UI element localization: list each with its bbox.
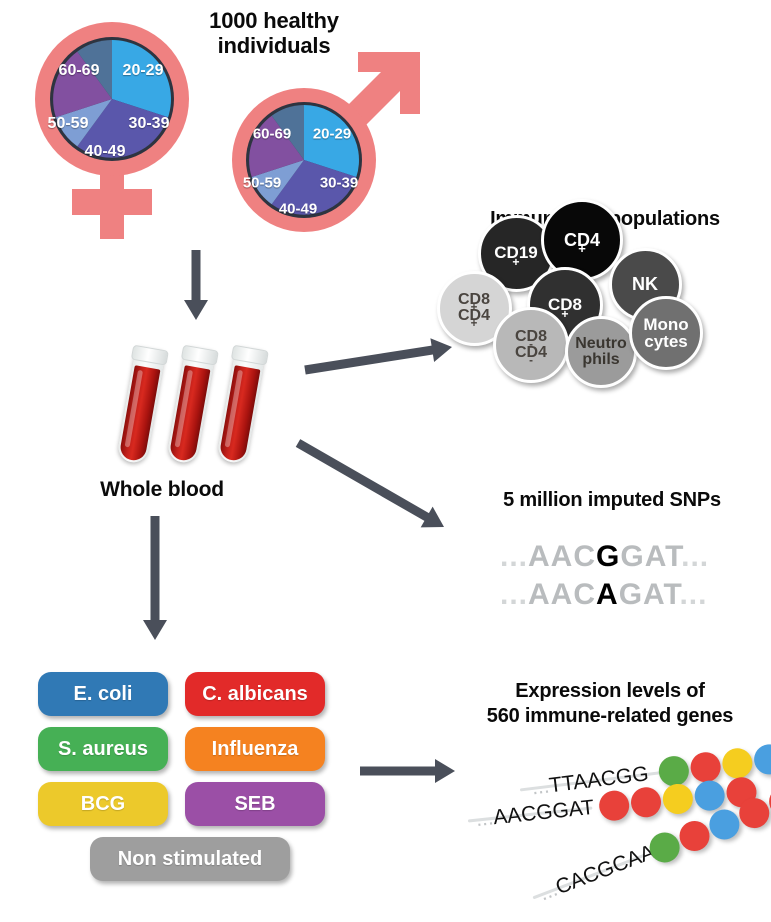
dna-bead — [735, 794, 771, 833]
immune-cell-cd8-cd4[interactable]: CD8-CD4- — [493, 307, 569, 383]
dna-bead — [630, 786, 663, 819]
immune-cell-label: CD8+ — [548, 296, 582, 313]
dna-bead — [661, 782, 694, 815]
immune-cell-label: CD8-CD4- — [515, 329, 547, 362]
dna-bead — [675, 817, 714, 856]
immune-cell-label: Neutrophils — [575, 336, 627, 369]
immune-cell-label: NK — [632, 275, 658, 293]
expression-strands-group: ...TTAACGG...AACGGAT...CACGCAA — [0, 0, 771, 922]
dna-bead — [752, 743, 771, 776]
immune-cell-label: Monocytes — [643, 316, 688, 351]
strand-sequence: ...AACGGAT — [475, 796, 595, 832]
immune-cell-label: CD4+ — [564, 231, 600, 249]
dna-bead — [598, 789, 631, 822]
immune-cell-neutrophils[interactable]: Neutrophils — [565, 316, 637, 388]
immune-cell-monocytes[interactable]: Monocytes — [629, 296, 703, 370]
immune-cell-label: CD19+ — [494, 244, 537, 261]
dna-bead — [705, 805, 744, 844]
immune-cell-label: CD8+CD4+ — [458, 292, 490, 325]
strand-sequence: ...CACGCAA — [536, 840, 658, 906]
